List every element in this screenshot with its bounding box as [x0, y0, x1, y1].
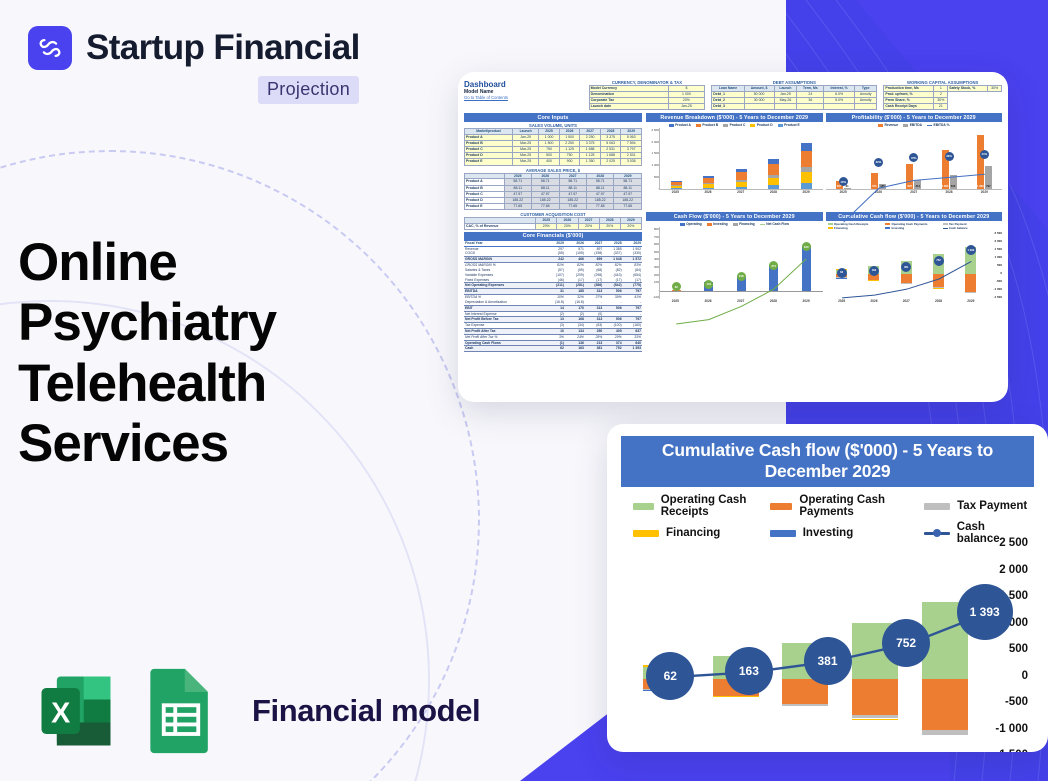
- data-point-bubble: 1 393: [966, 245, 976, 255]
- cell[interactable]: 400: [539, 159, 560, 165]
- data-point-bubble: 218: [737, 272, 746, 281]
- extra-value[interactable]: 30%: [988, 86, 1002, 92]
- core-inputs-band: Core Inputs: [464, 113, 642, 122]
- data-point-bubble: 32%: [874, 158, 883, 167]
- data-point-bubble: 41%: [980, 150, 989, 159]
- mini-chart-revenue-breakdown[interactable]: Revenue Breakdown ($'000) - 5 Years to D…: [646, 113, 823, 209]
- tick-label: 1 000: [987, 255, 1002, 259]
- cell[interactable]: 20%: [536, 223, 557, 229]
- bar-segment: [768, 164, 779, 175]
- cell[interactable]: Product E: [465, 159, 513, 165]
- brand-title: Startup Financial: [86, 28, 360, 68]
- tick-label: 2 000: [987, 239, 1002, 243]
- bar-segment: [768, 178, 779, 186]
- legend-item: Product A: [669, 123, 691, 127]
- bar-segment: [801, 183, 812, 189]
- bar-column: [801, 143, 812, 189]
- data-point-bubble: 62: [646, 652, 694, 700]
- tick-label: 500: [987, 263, 1002, 267]
- legend-item: Net Cash Flow: [760, 222, 789, 226]
- extra-label: Safety Stock, %: [948, 86, 988, 92]
- cell[interactable]: 20%: [599, 223, 620, 229]
- debt-assumptions-table[interactable]: Loan NameAmount, $LaunchTerm, MsInterest…: [711, 85, 877, 110]
- bar-segment: [736, 172, 747, 179]
- legend-item: Revenue: [878, 123, 898, 127]
- tick-label: 500: [646, 175, 659, 179]
- row-value[interactable]: 21: [934, 104, 948, 110]
- row-value[interactable]: Jan-25: [668, 104, 705, 110]
- cell[interactable]: 20%: [578, 223, 599, 229]
- cumulative-cash-flow-card[interactable]: Cumulative Cash flow ($'000) - 5 Years t…: [607, 424, 1048, 752]
- table-row[interactable]: Cash621633817521 393: [464, 346, 642, 352]
- table-row[interactable]: CAC, % of Revenue20%20%20%20%20%: [465, 223, 642, 229]
- cashflow-y-axis: 800700600500400300200100--100: [646, 227, 659, 299]
- revenue-x-axis: 20252026202720282029: [646, 190, 823, 194]
- legend-item: Financing: [633, 521, 770, 545]
- cac-table[interactable]: 20252026202720282029CAC, % of Revenue20%…: [464, 217, 642, 230]
- row-label: Cash: [464, 346, 545, 352]
- tick-label: 1 500: [987, 247, 1002, 251]
- data-point-bubble: 10%: [839, 177, 848, 186]
- legend-swatch: [633, 530, 659, 537]
- data-point-bubble: 62: [837, 268, 847, 278]
- table-row[interactable]: Debt_3: [712, 104, 877, 110]
- financial-model-label: Financial model: [252, 693, 480, 729]
- infinity-e-icon: [36, 34, 64, 62]
- row-label: CAC, % of Revenue: [465, 223, 536, 229]
- cumulative-chart-title: Cumulative Cash flow ($'000) - 5 Years t…: [621, 436, 1034, 487]
- legend-item: EBITDA %: [927, 123, 950, 127]
- currency-assumptions-table[interactable]: Model Currency$Denomination1 000Corporat…: [589, 85, 706, 110]
- average-price-table[interactable]: 20252026202720282029Product A58.7158.715…: [464, 173, 642, 210]
- legend-item: EBITDA: [903, 123, 922, 127]
- legend-item: Product C: [723, 123, 745, 127]
- toc-link[interactable]: Go to Table of Contents: [464, 95, 583, 100]
- data-point-bubble: 101: [704, 280, 713, 289]
- tick-label: 1 000: [646, 163, 659, 167]
- data-point-bubble: 1 393: [957, 584, 1013, 640]
- bar-column: [703, 176, 714, 190]
- cell[interactable]: [824, 104, 855, 110]
- mini-chart-cash-flow[interactable]: Cash Flow ($'000) - 5 Years to December …: [646, 212, 823, 318]
- cell[interactable]: Product E: [465, 203, 505, 209]
- cell[interactable]: 77.65: [586, 203, 613, 209]
- legend-item: Product B: [696, 123, 718, 127]
- revenue-y-axis: 2 5002 0001 5001 000500-: [646, 128, 659, 190]
- data-point-bubble: 39%: [945, 152, 954, 161]
- data-point-bubble: 163: [869, 266, 879, 276]
- tick-label: 2025: [672, 190, 679, 194]
- brand-mark-icon: [28, 26, 72, 70]
- table-row[interactable]: Prem Share, %30%: [884, 98, 1002, 104]
- data-point-bubble: 752: [882, 619, 930, 667]
- tick-label: 2 000: [646, 140, 659, 144]
- legend-item: Operating Cash Receipts: [633, 494, 770, 518]
- table-row[interactable]: Product E77.6577.6577.6577.6577.65: [465, 203, 642, 209]
- legend-item: Product D: [750, 123, 772, 127]
- cash-flow-title: Cash Flow ($'000) - 5 Years to December …: [646, 212, 823, 221]
- bar-segment: [801, 172, 812, 184]
- legend-item: Operating Cash Payments: [770, 494, 924, 518]
- brand-logo[interactable]: Startup Financial: [28, 26, 360, 70]
- bar-segment: [671, 188, 682, 189]
- cell[interactable]: [774, 104, 797, 110]
- legend-item: Tax Payment: [924, 494, 1030, 518]
- ebitda-percent-line: [826, 128, 1002, 237]
- dashboard-screenshot-card[interactable]: Dashboard Model Name Go to Table of Cont…: [458, 72, 1008, 402]
- cell[interactable]: Mar-25: [513, 159, 539, 165]
- tick-label: 2 500: [646, 128, 659, 132]
- legend-item: Product E: [778, 123, 800, 127]
- legend-item: Investing: [707, 222, 728, 226]
- cell[interactable]: 381: [585, 346, 603, 352]
- cell[interactable]: [797, 104, 824, 110]
- cell[interactable]: 1 393: [623, 346, 642, 352]
- tick-label: 1 500: [646, 151, 659, 155]
- cell[interactable]: 20%: [557, 223, 578, 229]
- tick-label: 2027: [737, 190, 744, 194]
- cell[interactable]: 1 350: [580, 159, 601, 165]
- cell[interactable]: 163: [565, 346, 585, 352]
- cell[interactable]: 62: [545, 346, 565, 352]
- bar-segment: [703, 188, 714, 190]
- cell[interactable]: 77.65: [559, 203, 586, 209]
- working-capital-table[interactable]: Production time, Ms1Safety Stock, %30%Pr…: [883, 85, 1002, 110]
- table-row[interactable]: Launch dateJan-25: [589, 104, 705, 110]
- row-label: Launch date: [589, 104, 668, 110]
- cumulative-balance-line: [826, 231, 987, 341]
- cell[interactable]: 3 038: [621, 159, 642, 165]
- cell[interactable]: 900: [559, 159, 580, 165]
- bar-column: [768, 159, 779, 190]
- revenue-breakdown-title: Revenue Breakdown ($'000) - 5 Years to D…: [646, 113, 823, 122]
- cell[interactable]: 77.65: [614, 203, 642, 209]
- tick-label: -1 000: [987, 287, 1002, 291]
- cumulative-chart-legend: Operating Cash ReceiptsOperating Cash Pa…: [621, 487, 1034, 545]
- data-point-bubble: 381: [804, 637, 852, 685]
- file-format-row: X Financial model: [30, 665, 480, 757]
- tick-label: 2029: [803, 190, 810, 194]
- table-row[interactable]: Cash Receipt Days21: [884, 104, 1002, 110]
- projection-badge: Projection: [258, 76, 359, 104]
- bar-segment: [736, 187, 747, 190]
- cumulative-chart-plot: 621633817521 393 2 5002 0001 5001 000500…: [631, 559, 1028, 751]
- tick-label: 2 500: [999, 537, 1028, 549]
- cell[interactable]: 77.65: [504, 203, 531, 209]
- legend-item: Investing: [770, 521, 924, 545]
- tick-label: 2028: [770, 190, 777, 194]
- cell[interactable]: [744, 104, 774, 110]
- svg-text:X: X: [51, 698, 70, 730]
- cumulative-mini-y-axis: 2 5002 0001 5001 0005000-500-1 000-1 500: [987, 231, 1002, 299]
- bar-segment: [801, 143, 812, 150]
- profitability-title: Profitability ($'000) - 5 Years to Decem…: [826, 113, 1003, 122]
- cell[interactable]: 752: [603, 346, 622, 352]
- tick-label: -1 500: [987, 295, 1002, 299]
- cell[interactable]: 2 025: [600, 159, 621, 165]
- cell[interactable]: Debt_3: [712, 104, 744, 110]
- tick-label: 0: [987, 271, 1002, 275]
- mini-chart-profitability[interactable]: Profitability ($'000) - 5 Years to Decem…: [826, 113, 1003, 209]
- legend-item: Financing: [733, 222, 755, 226]
- legend-swatch: [633, 503, 654, 510]
- legend-swatch: [924, 503, 950, 510]
- bar-segment: [768, 185, 779, 189]
- data-point-bubble: 752: [934, 256, 944, 266]
- data-point-bubble: 163: [725, 647, 773, 695]
- bar-column: [671, 181, 682, 190]
- bar-column: [736, 169, 747, 189]
- bar-segment: [801, 151, 812, 168]
- microsoft-excel-icon: X: [30, 665, 122, 757]
- net-cash-flow-line: [660, 227, 823, 344]
- tick-label: -500: [987, 279, 1002, 283]
- page-title: Online Psychiatry Telehealth Services: [18, 233, 398, 475]
- cell[interactable]: [854, 104, 876, 110]
- google-sheets-icon: [142, 665, 220, 757]
- table-row[interactable]: Product EMar-254009001 3502 0253 038: [465, 159, 642, 165]
- cell[interactable]: 20%: [620, 223, 641, 229]
- legend-swatch: [770, 530, 796, 537]
- legend-swatch: [924, 532, 950, 535]
- legend-item: Operating: [680, 222, 702, 226]
- core-financials-band: Core Financials ($'000): [464, 232, 642, 241]
- row-label: Cash Receipt Days: [884, 104, 934, 110]
- dashboard-title: Dashboard: [464, 80, 583, 89]
- cell[interactable]: 77.65: [532, 203, 559, 209]
- sales-volume-table[interactable]: Market/productLaunch20252026202720282029…: [464, 128, 642, 165]
- tick-label: -: [646, 186, 659, 190]
- core-financials-table[interactable]: Fiscal Year20292026202720282029Revenue29…: [464, 241, 642, 353]
- legend-swatch: [770, 503, 793, 510]
- tick-label: 2026: [704, 190, 711, 194]
